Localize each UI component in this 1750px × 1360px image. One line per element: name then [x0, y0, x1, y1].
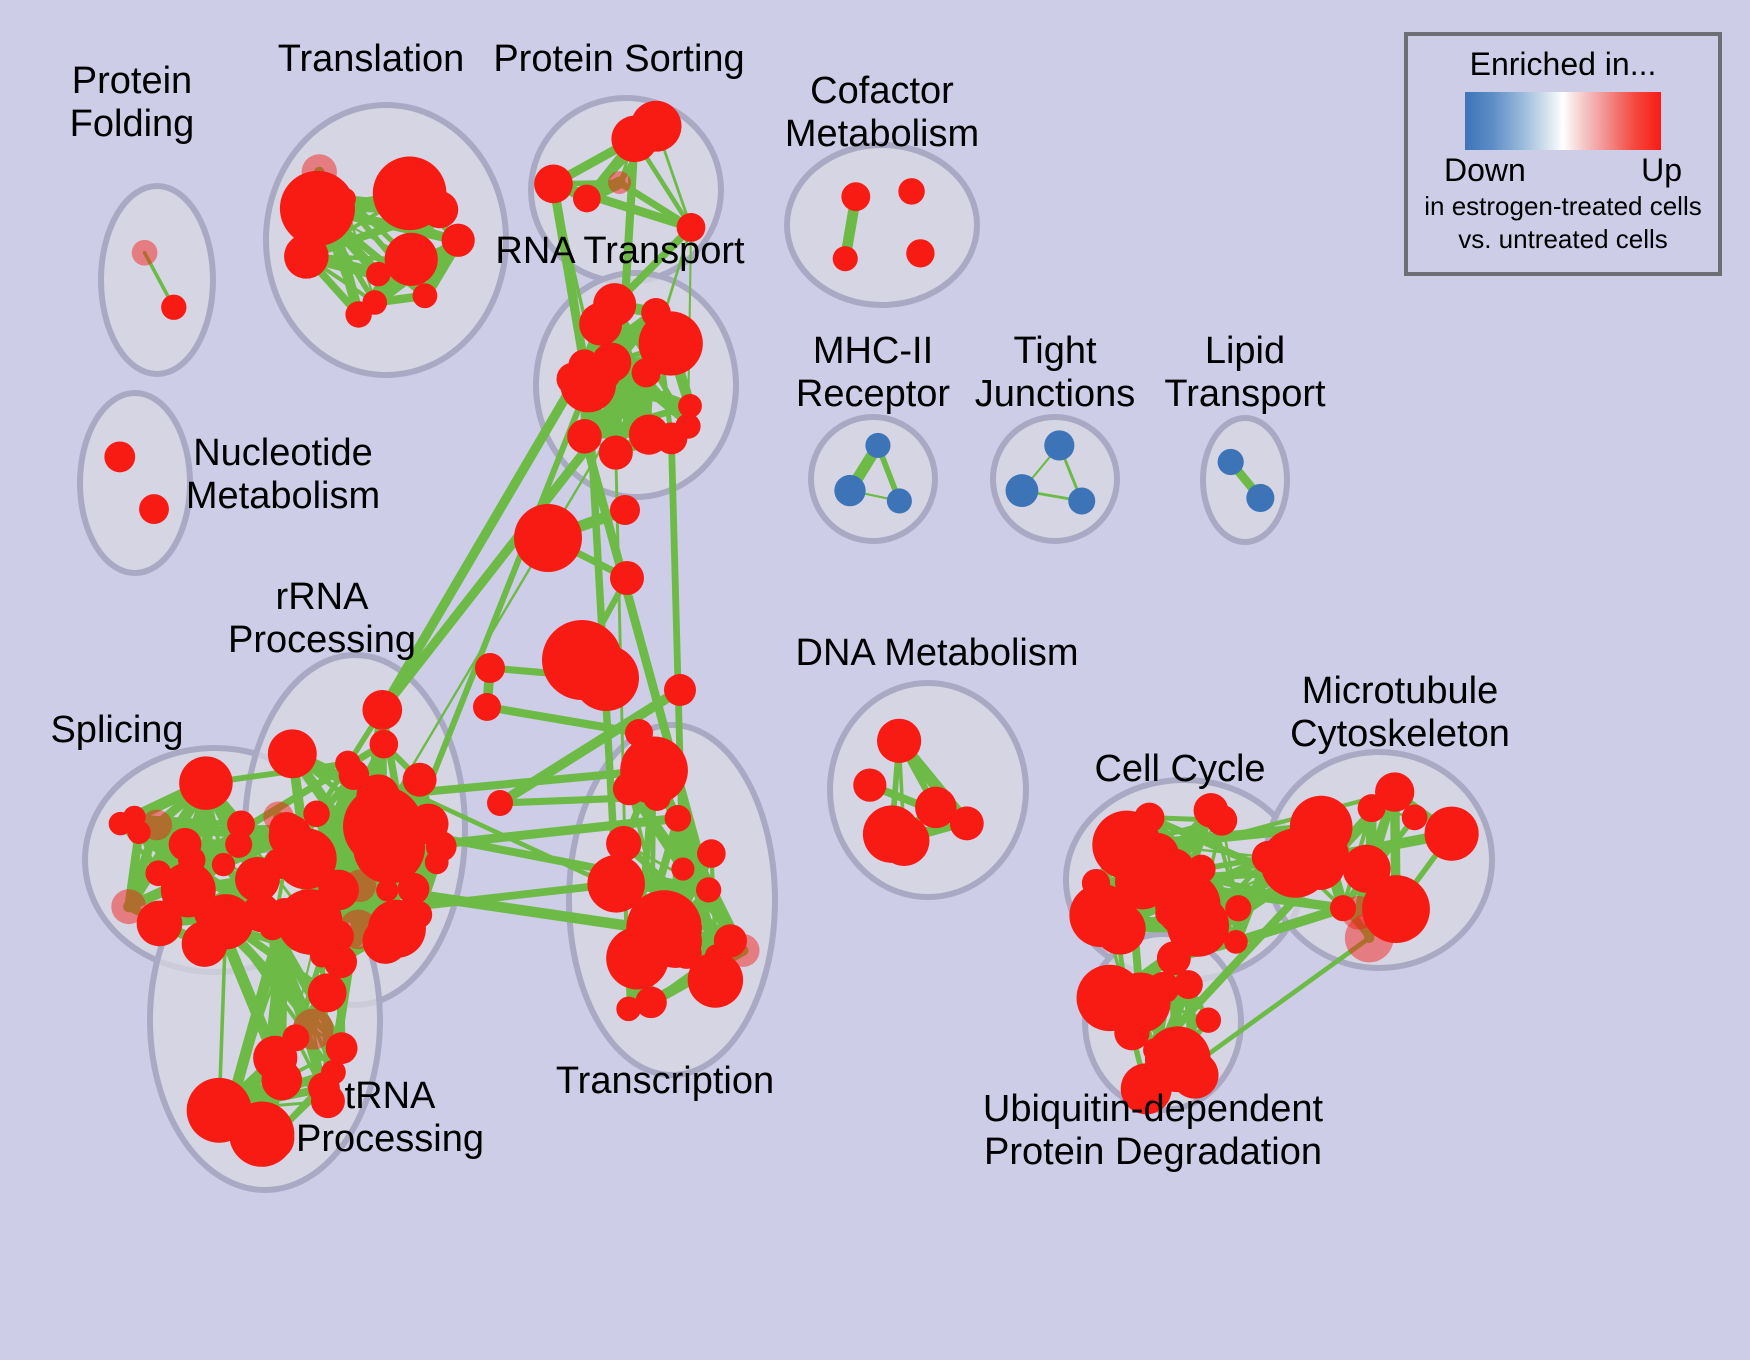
- network-node[interactable]: [385, 233, 438, 286]
- network-node[interactable]: [534, 165, 573, 204]
- network-node[interactable]: [579, 303, 622, 346]
- network-node[interactable]: [610, 495, 640, 525]
- network-node[interactable]: [421, 191, 458, 228]
- network-node[interactable]: [344, 870, 377, 903]
- network-node[interactable]: [1118, 867, 1142, 891]
- network-node[interactable]: [1134, 803, 1164, 833]
- network-node[interactable]: [1225, 895, 1251, 921]
- network-node[interactable]: [833, 246, 858, 271]
- network-node[interactable]: [641, 298, 671, 328]
- network-node[interactable]: [321, 1060, 346, 1085]
- network-node[interactable]: [610, 561, 644, 595]
- network-node[interactable]: [169, 828, 202, 861]
- network-node[interactable]: [714, 924, 747, 957]
- network-node[interactable]: [1068, 487, 1095, 514]
- network-node[interactable]: [362, 690, 402, 730]
- network-node[interactable]: [898, 178, 924, 204]
- network-node[interactable]: [475, 653, 505, 683]
- network-node[interactable]: [487, 790, 513, 816]
- network-node[interactable]: [853, 769, 886, 802]
- network-node[interactable]: [280, 171, 355, 246]
- network-node[interactable]: [1206, 805, 1237, 836]
- network-node[interactable]: [1330, 895, 1356, 921]
- network-node[interactable]: [139, 494, 169, 524]
- network-node[interactable]: [198, 894, 253, 949]
- network-node[interactable]: [608, 171, 631, 194]
- network-node[interactable]: [263, 801, 293, 831]
- network-node[interactable]: [678, 394, 702, 418]
- network-node[interactable]: [398, 873, 430, 905]
- network-node[interactable]: [1006, 474, 1039, 507]
- cluster-hull-protein-folding: [101, 186, 213, 374]
- network-node[interactable]: [212, 853, 235, 876]
- network-node[interactable]: [567, 419, 602, 454]
- network-node[interactable]: [665, 805, 692, 832]
- network-node[interactable]: [514, 504, 582, 572]
- network-node[interactable]: [1121, 1063, 1172, 1114]
- network-node[interactable]: [950, 806, 984, 840]
- network-node[interactable]: [286, 829, 325, 868]
- network-node[interactable]: [631, 101, 682, 152]
- legend-title: Enriched in...: [1470, 46, 1657, 83]
- network-node[interactable]: [671, 938, 701, 968]
- network-node[interactable]: [370, 730, 399, 759]
- network-node[interactable]: [104, 441, 135, 472]
- legend-caption-line2: vs. untreated cells: [1458, 224, 1668, 255]
- network-node[interactable]: [408, 804, 449, 845]
- network-node[interactable]: [865, 433, 890, 458]
- network-node[interactable]: [403, 763, 437, 797]
- network-node[interactable]: [887, 488, 912, 513]
- network-node[interactable]: [235, 857, 280, 902]
- network-node[interactable]: [879, 815, 930, 866]
- network-node[interactable]: [632, 358, 661, 387]
- network-node[interactable]: [259, 913, 286, 940]
- network-node[interactable]: [1425, 807, 1479, 861]
- network-node[interactable]: [664, 674, 696, 706]
- network-node[interactable]: [631, 756, 655, 780]
- cluster-hull-nucleotide-metabolism: [80, 393, 190, 573]
- legend-caption-line1: in estrogen-treated cells: [1424, 191, 1701, 222]
- legend-panel: Enriched in... Down Up in estrogen-treat…: [1404, 32, 1722, 276]
- network-node[interactable]: [696, 877, 721, 902]
- network-node[interactable]: [250, 1116, 294, 1160]
- network-node[interactable]: [677, 213, 706, 242]
- network-node[interactable]: [363, 827, 385, 849]
- network-node[interactable]: [1375, 772, 1414, 811]
- network-node[interactable]: [1246, 484, 1274, 512]
- network-node[interactable]: [123, 806, 146, 829]
- network-node[interactable]: [132, 240, 158, 266]
- network-node[interactable]: [179, 756, 232, 809]
- network-node[interactable]: [592, 343, 632, 383]
- network-node[interactable]: [841, 182, 870, 211]
- legend-high-label: Up: [1641, 152, 1682, 189]
- network-node[interactable]: [356, 774, 400, 818]
- network-node[interactable]: [606, 826, 641, 861]
- network-node[interactable]: [261, 1060, 302, 1101]
- network-node[interactable]: [625, 719, 653, 747]
- network-node[interactable]: [906, 239, 934, 267]
- network-node[interactable]: [616, 997, 641, 1022]
- enrichment-map-figure: Protein FoldingTranslationProtein Sortin…: [0, 0, 1750, 1360]
- network-node[interactable]: [1157, 941, 1191, 975]
- network-node[interactable]: [1196, 1008, 1221, 1033]
- network-node[interactable]: [1343, 845, 1391, 893]
- legend-endpoints: Down Up: [1444, 152, 1682, 189]
- network-node[interactable]: [1094, 903, 1145, 954]
- network-node[interactable]: [834, 475, 865, 506]
- network-node[interactable]: [1082, 869, 1110, 897]
- network-node[interactable]: [284, 234, 329, 279]
- network-node[interactable]: [573, 645, 639, 711]
- network-node[interactable]: [1135, 833, 1179, 877]
- network-node[interactable]: [629, 414, 669, 454]
- network-node[interactable]: [303, 801, 330, 828]
- legend-low-label: Down: [1444, 152, 1526, 189]
- legend-colorbar: [1465, 92, 1661, 150]
- network-node[interactable]: [599, 435, 633, 469]
- network-node[interactable]: [1159, 899, 1191, 931]
- network-node[interactable]: [697, 839, 726, 868]
- network-node[interactable]: [1095, 992, 1130, 1027]
- network-node[interactable]: [877, 719, 921, 763]
- network-node[interactable]: [308, 973, 347, 1012]
- network-node[interactable]: [326, 1032, 358, 1064]
- cluster-hull-cofactor-metabolism: [787, 145, 977, 305]
- network-node[interactable]: [1261, 828, 1330, 897]
- network-node[interactable]: [1402, 805, 1428, 831]
- network-node[interactable]: [573, 185, 601, 213]
- network-node[interactable]: [310, 943, 334, 967]
- network-node[interactable]: [376, 879, 398, 901]
- network-node[interactable]: [282, 1024, 309, 1051]
- network-node[interactable]: [187, 1078, 252, 1143]
- network-node[interactable]: [671, 857, 694, 880]
- network-node[interactable]: [659, 340, 687, 368]
- network-node[interactable]: [227, 810, 255, 838]
- network-node[interactable]: [1218, 449, 1244, 475]
- network-node[interactable]: [345, 301, 371, 327]
- network-node[interactable]: [1044, 430, 1074, 460]
- network-node[interactable]: [161, 295, 186, 320]
- network-node[interactable]: [413, 283, 438, 308]
- network-node[interactable]: [442, 224, 475, 257]
- network-node[interactable]: [473, 693, 501, 721]
- network-node[interactable]: [643, 783, 671, 811]
- network-node[interactable]: [557, 363, 590, 396]
- network-node[interactable]: [268, 729, 317, 778]
